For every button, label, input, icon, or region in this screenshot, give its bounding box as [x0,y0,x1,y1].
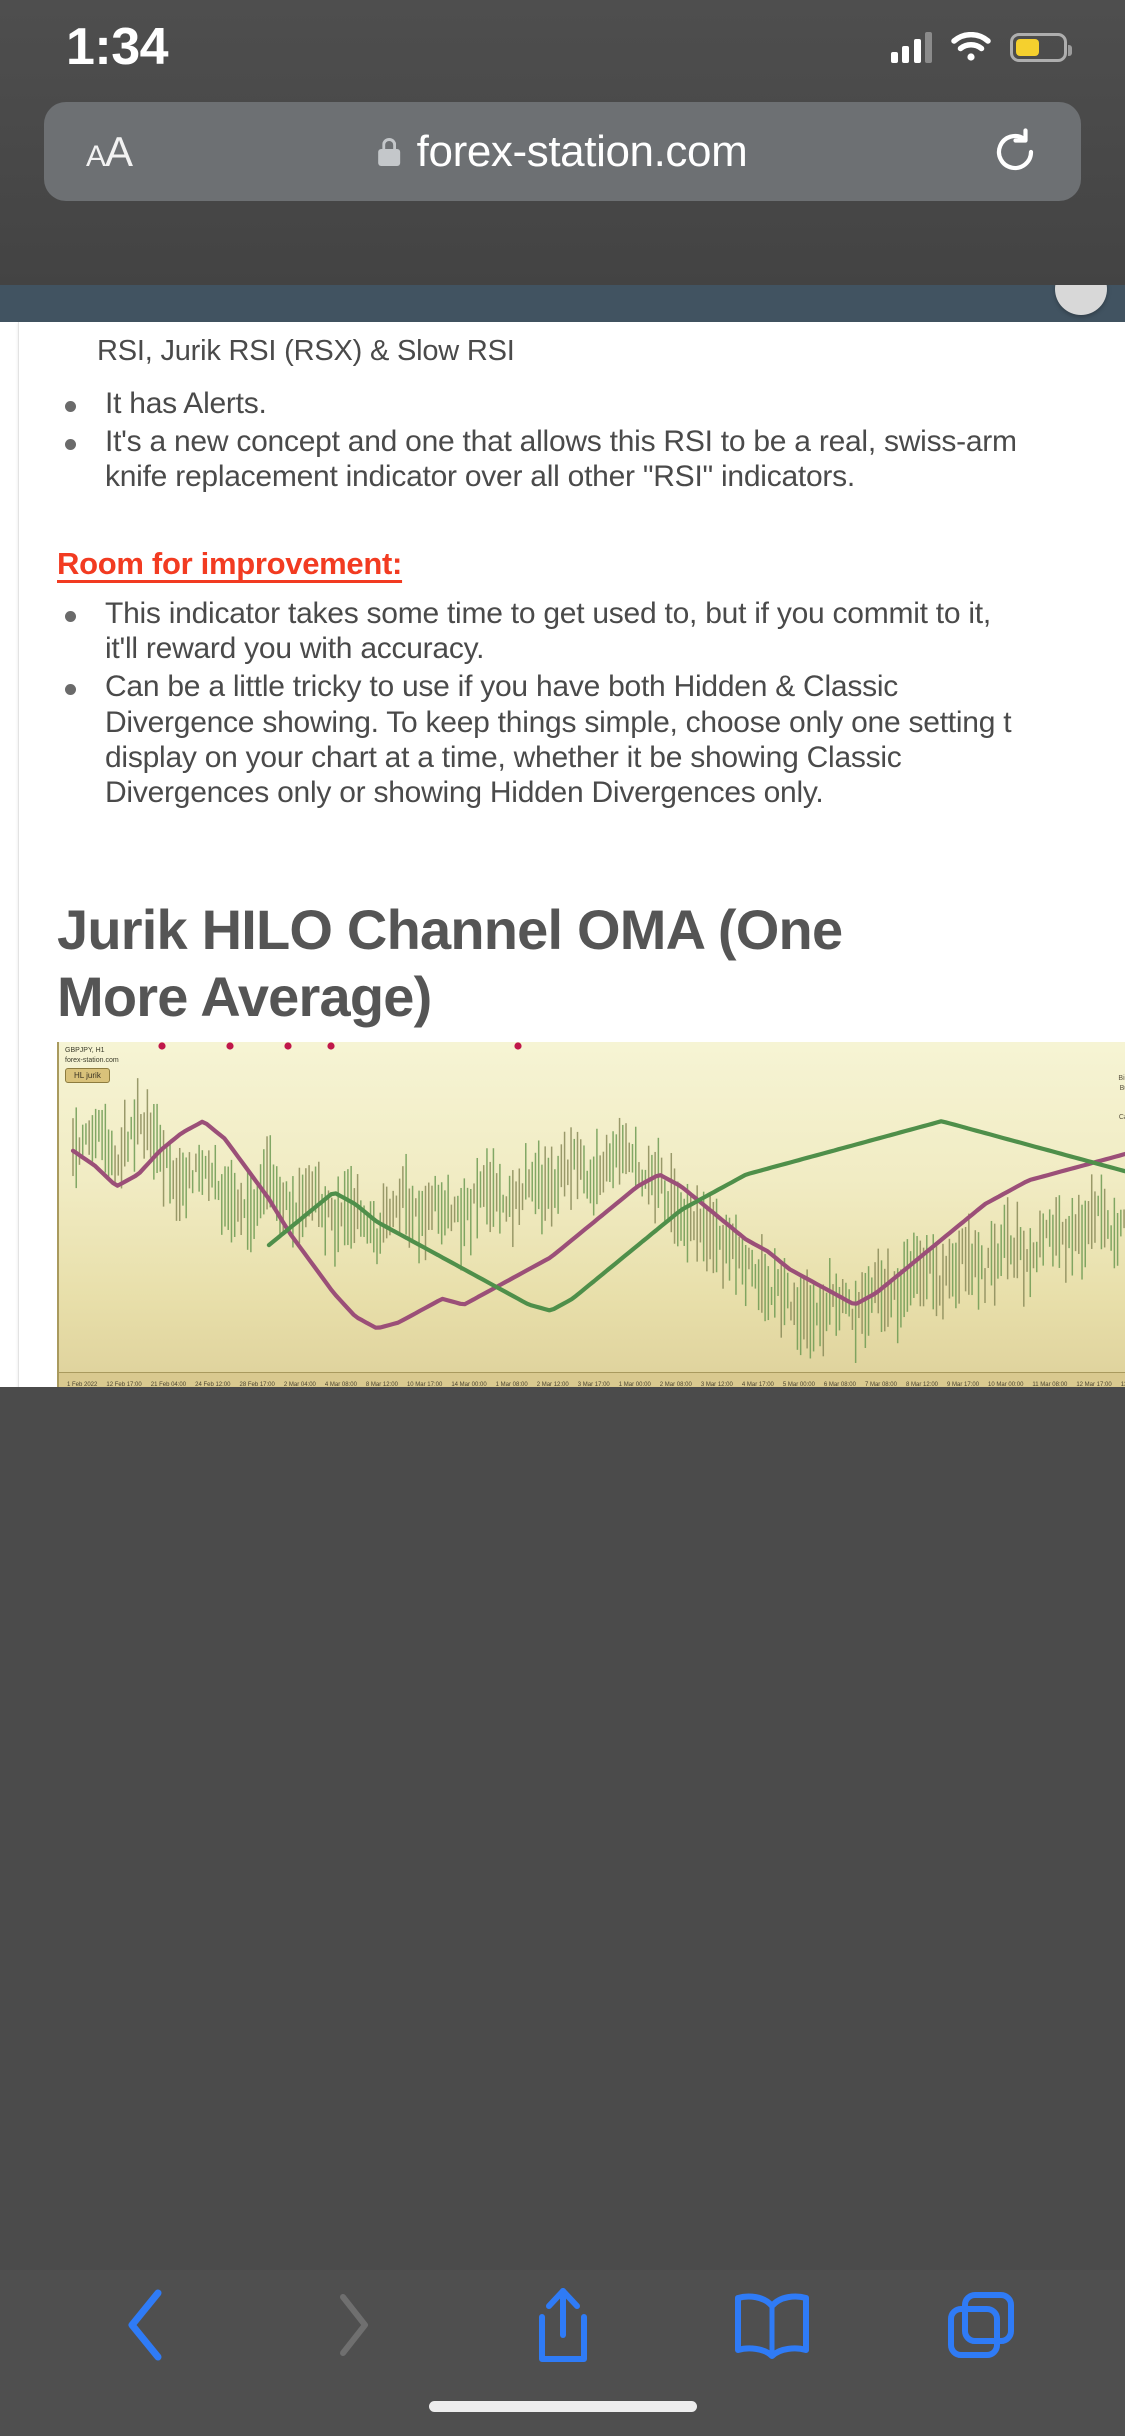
avatar[interactable] [1055,285,1107,315]
bullet-list-room-wrap: This indicator takes some time to get us… [19,596,1125,810]
tabs-button[interactable] [933,2282,1029,2368]
status-bar-indicators [891,31,1068,63]
bullet-dot-icon [65,439,76,450]
chart-x-tick-label: 4 Mar 08:00 [325,1382,357,1387]
chart-x-tick-label: 12 Feb 17:00 [106,1382,141,1387]
chart-x-tick-label: 2 Mar 12:00 [537,1382,569,1387]
battery-icon [1010,33,1067,62]
bullet-dot-icon [65,611,76,622]
chart-signal-dot [226,1043,233,1050]
chart-x-axis: 1 Feb 202212 Feb 17:0021 Feb 04:0024 Feb… [59,1372,1125,1387]
chart-x-tick-label: 12 Mar 17:00 [1076,1382,1111,1387]
bullet-dot-icon [65,684,76,695]
chart-x-tick-label: 28 Feb 17:00 [239,1382,274,1387]
chart-x-tick-label: 11 Mar 08:00 [1032,1382,1067,1387]
wifi-icon [951,32,991,62]
list-item: It's a new concept and one that allows t… [39,424,1125,494]
chart-x-tick-label: 2 Mar 04:00 [284,1382,316,1387]
list-item-line: it'll reward you with accuracy. [105,631,1125,666]
browser-chrome: AA forex-station.com [0,88,1125,285]
chart-x-tick-label: 21 Feb 04:00 [151,1382,186,1387]
page-title: Jurik HILO Channel OMA (One More Average… [57,896,1125,1030]
url-bar[interactable]: AA forex-station.com [44,102,1081,201]
status-bar-time: 1:34 [66,17,168,77]
url-display[interactable]: forex-station.com [378,127,748,177]
chart-x-tick-label: 7 Mar 08:00 [865,1382,897,1387]
breadcrumb: RSI, Jurik RSI (RSX) & Slow RSI [19,322,1125,368]
room-for-improvement-heading: Room for improvement: [57,546,1125,582]
chart-x-tick-label: 24 Feb 12:00 [195,1382,230,1387]
list-item-line: This indicator takes some time to get us… [105,596,1125,631]
chart-x-tick-label: 13 Mar 00:00 [1121,1382,1125,1387]
site-header-band [0,285,1125,322]
list-item-line: It has Alerts. [105,386,1125,421]
chart-x-tick-label: 1 Mar 00:00 [619,1382,651,1387]
page-title-line1: Jurik HILO Channel OMA (One [57,898,842,961]
chart-signal-dot [327,1043,334,1050]
list-item-line: knife replacement indicator over all oth… [105,459,1125,494]
text-size-button[interactable]: AA [86,128,132,176]
bullet-list-top: It has Alerts. It's a new concept and on… [39,386,1125,494]
back-button[interactable] [97,2282,193,2368]
list-item: This indicator takes some time to get us… [39,596,1125,666]
bookmarks-button[interactable] [724,2282,820,2368]
article-content: RSI, Jurik RSI (RSX) & Slow RSI It has A… [18,322,1125,1387]
chart-x-tick-label: 6 Mar 08:00 [824,1382,856,1387]
reload-button[interactable] [989,126,1041,178]
share-button[interactable] [515,2282,611,2368]
chart-x-tick-label: 4 Mar 17:00 [742,1382,774,1387]
chart-x-tick-label: 8 Mar 12:00 [366,1382,398,1387]
chart-x-tick-label: 8 Mar 12:00 [906,1382,938,1387]
list-item-line: Divergence showing. To keep things simpl… [105,705,1125,740]
forward-button [306,2282,402,2368]
chart-x-tick-label: 14 Mar 00:00 [451,1382,486,1387]
browser-toolbar [0,1387,1125,2436]
status-bar: 1:34 [0,0,1125,88]
lock-icon [378,138,400,166]
list-item: It has Alerts. [39,386,1125,421]
text-size-large-a: A [105,128,132,176]
chart-x-tick-label: 1 Feb 2022 [67,1382,97,1387]
chart-x-tick-label: 10 Mar 17:00 [407,1382,442,1387]
bullet-dot-icon [65,401,76,412]
list-item-line: Can be a little tricky to use if you hav… [105,669,1125,704]
bullet-list-top-wrap: It has Alerts. It's a new concept and on… [19,368,1125,494]
chart-x-tick-label: 1 Mar 08:00 [496,1382,528,1387]
chart-x-tick-label: 9 Mar 17:00 [947,1382,979,1387]
chart-signal-dot [284,1043,291,1050]
web-page-viewport[interactable]: RSI, Jurik RSI (RSX) & Slow RSI It has A… [0,285,1125,1387]
list-item-line: It's a new concept and one that allows t… [105,424,1125,459]
chart-x-tick-label: 3 Mar 12:00 [701,1382,733,1387]
chart-x-tick-label: 5 Mar 00:00 [783,1382,815,1387]
url-text: forex-station.com [417,127,748,177]
chart-signal-dot [514,1043,521,1050]
chart-signal-dot [158,1043,165,1050]
list-item-line: display on your chart at a time, whether… [105,740,1125,775]
text-size-small-a: A [86,140,105,174]
chart-x-tick-label: 2 Mar 08:00 [660,1382,692,1387]
chart-image[interactable]: GBPJPY, H1 forex-station.com HL jurik 3 … [57,1042,1125,1387]
chart-x-tick-label: 10 Mar 00:00 [988,1382,1023,1387]
page-title-line2: More Average) [57,965,431,1028]
list-item-line: Divergences only or showing Hidden Diver… [105,775,1125,810]
chart-x-tick-label: 3 Mar 17:00 [578,1382,610,1387]
home-indicator [429,2401,697,2412]
cellular-signal-icon [891,31,933,63]
chart-plot-area [59,1042,1125,1372]
list-item: Can be a little tricky to use if you hav… [39,669,1125,809]
bullet-list-room: This indicator takes some time to get us… [39,596,1125,810]
